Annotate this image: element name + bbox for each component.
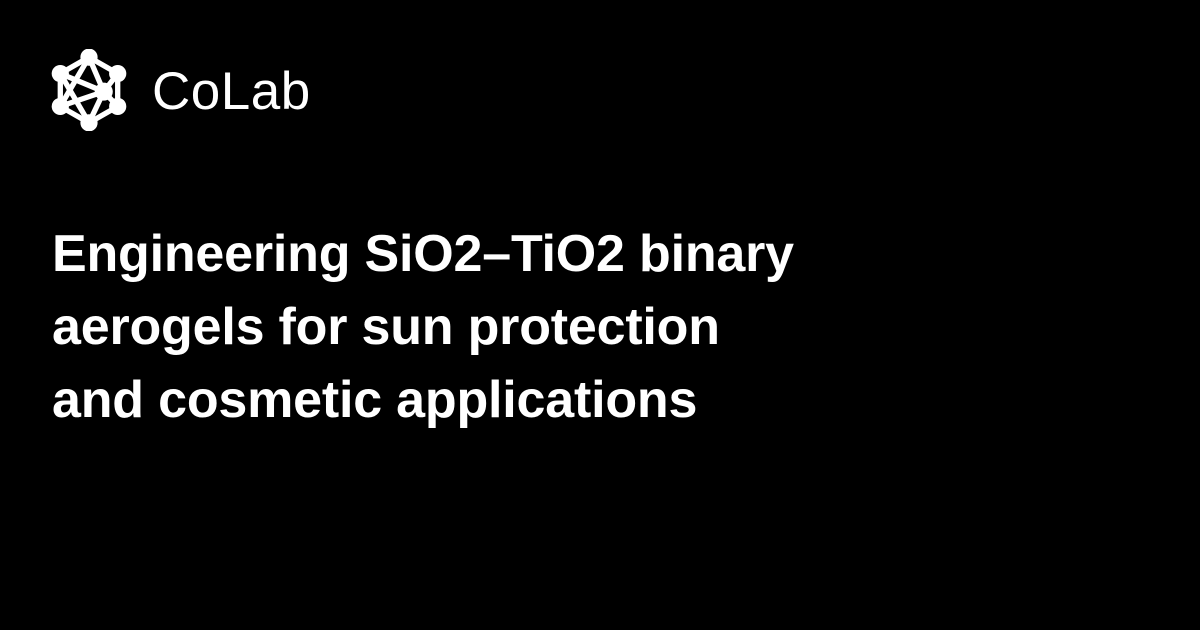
title-line-1: Engineering SiO2–TiO2 binary — [52, 218, 1032, 291]
brand-wordmark: CoLab — [152, 65, 311, 118]
article-share-card: CoLab Engineering SiO2–TiO2 binary aerog… — [0, 0, 1200, 630]
title-line-3: and cosmetic applications — [52, 364, 1032, 437]
title-line-2: aerogels for sun protection — [52, 291, 1032, 364]
page-title: Engineering SiO2–TiO2 binary aerogels fo… — [52, 218, 1032, 437]
colab-logo-mark — [48, 49, 130, 131]
brand-lockup[interactable]: CoLab — [48, 48, 311, 132]
hexagonal-node-graph-icon — [48, 49, 130, 131]
